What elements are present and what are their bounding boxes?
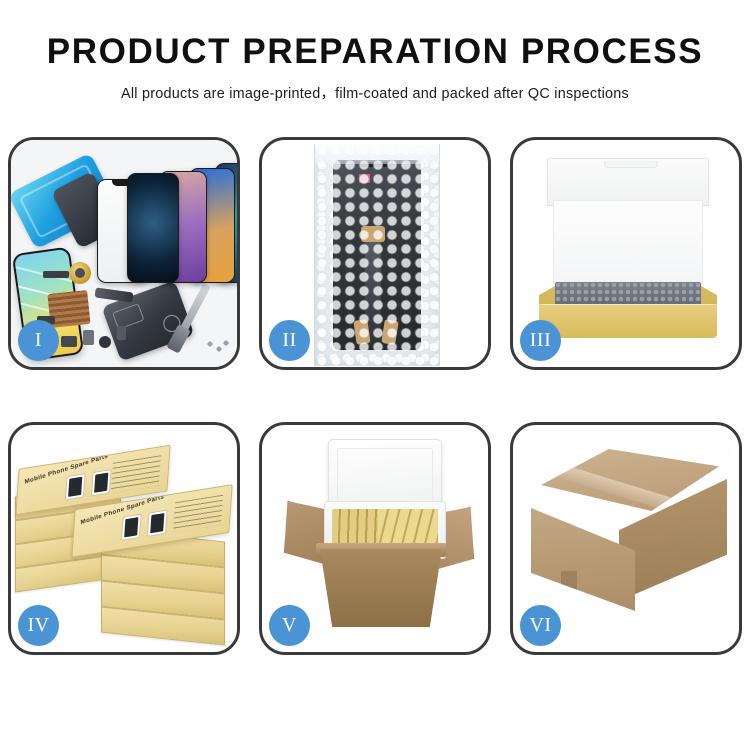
component-chip-icon bbox=[117, 326, 126, 340]
phone-display-fan bbox=[97, 158, 237, 283]
step-badge-5: V bbox=[269, 605, 310, 646]
step-badge-2: II bbox=[269, 320, 310, 361]
screen-blue-wallpaper-icon bbox=[127, 173, 179, 283]
page-subtitle: All products are image-printed，film-coat… bbox=[0, 82, 750, 103]
box-artwork-thumbnail bbox=[147, 510, 168, 537]
bag-seal-edge bbox=[315, 144, 439, 164]
step-badge-1: I bbox=[18, 320, 59, 361]
component-chip-icon bbox=[61, 336, 77, 347]
process-step-panel-5: V bbox=[259, 422, 491, 655]
screws-icon bbox=[207, 340, 229, 354]
carton-left-face bbox=[531, 499, 635, 611]
process-step-panel-3: III bbox=[510, 137, 742, 370]
page-title: PRODUCT PREPARATION PROCESS bbox=[0, 34, 750, 71]
process-step-panel-6: VI bbox=[510, 422, 742, 655]
box-spec-text-lines bbox=[173, 495, 223, 533]
camera-module-icon bbox=[99, 336, 111, 348]
carton-body bbox=[320, 549, 442, 627]
component-chip-icon bbox=[83, 330, 94, 345]
tray-lid-icon bbox=[547, 158, 709, 206]
tray-front-panel bbox=[539, 304, 717, 338]
flex-cable-dark-icon bbox=[94, 287, 133, 302]
carton-flap-seam bbox=[561, 633, 577, 652]
qc-sticker-icon bbox=[359, 174, 370, 183]
bubble-wrap-bag bbox=[314, 144, 440, 366]
box-artwork-thumbnail bbox=[91, 469, 112, 496]
header: PRODUCT PREPARATION PROCESS All products… bbox=[0, 0, 750, 103]
open-kraft-tray bbox=[539, 158, 717, 340]
step-badge-3: III bbox=[520, 320, 561, 361]
process-step-panel-4: Mobile Phone Spare Parts Mobile Phone Sp… bbox=[8, 422, 240, 655]
packed-display-assembly-icon bbox=[333, 160, 421, 350]
step-badge-6: VI bbox=[520, 605, 561, 646]
step-badge-4: IV bbox=[18, 605, 59, 646]
box-artwork-thumbnail bbox=[65, 473, 86, 500]
speaker-coil-icon bbox=[69, 262, 91, 284]
process-step-grid: I II bbox=[8, 137, 742, 655]
earpiece-mesh-icon bbox=[43, 271, 69, 278]
open-shipping-carton bbox=[284, 439, 474, 635]
carton-flap-seam bbox=[561, 571, 577, 593]
process-step-panel-1: I bbox=[8, 137, 240, 370]
sealed-shipping-carton bbox=[531, 449, 727, 617]
process-step-panel-2: II bbox=[259, 137, 491, 370]
white-foam-sheet-icon bbox=[553, 200, 703, 284]
box-artwork-thumbnail bbox=[121, 514, 142, 541]
box-spec-text-lines bbox=[111, 455, 161, 493]
product-preparation-infographic: PRODUCT PREPARATION PROCESS All products… bbox=[0, 0, 750, 750]
connector-right-icon bbox=[381, 319, 399, 345]
